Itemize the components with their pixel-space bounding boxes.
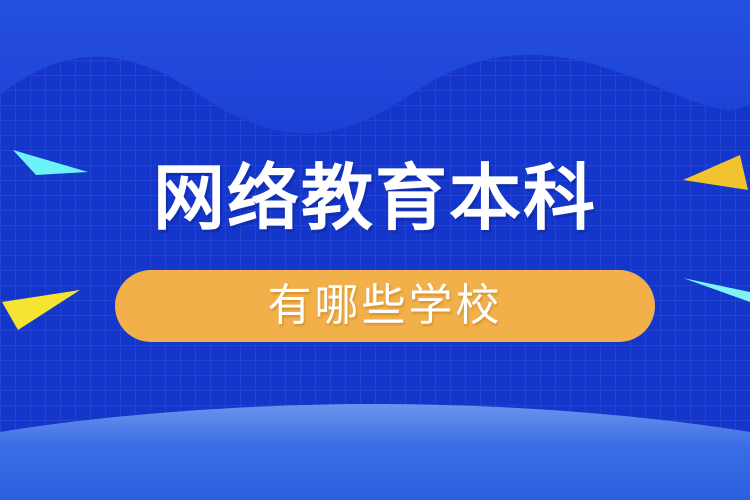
promotional-banner: 网络教育本科 有哪些学校: [0, 0, 750, 500]
page-title: 网络教育本科: [153, 162, 597, 234]
subheadline-pill: 有哪些学校: [115, 270, 655, 342]
subheadline-text: 有哪些学校: [268, 284, 503, 328]
headline-container: 网络教育本科: [0, 162, 750, 234]
banner-background: [0, 0, 750, 500]
